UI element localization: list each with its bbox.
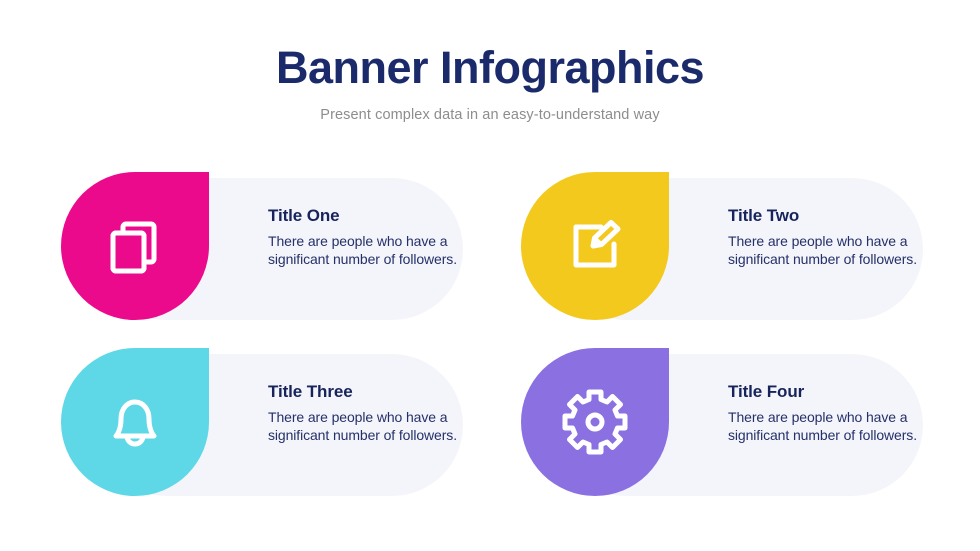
cards-grid: Title One There are people who have a si…	[0, 172, 980, 512]
info-card-one[interactable]: Title One There are people who have a si…	[61, 172, 463, 320]
page-title: Banner Infographics	[0, 44, 980, 91]
card-color-drop	[521, 172, 669, 320]
bell-icon	[102, 389, 168, 455]
card-text-block: Title Two There are people who have a si…	[728, 206, 918, 269]
card-title: Title One	[268, 206, 458, 226]
card-text-block: Title Four There are people who have a s…	[728, 382, 918, 445]
card-title: Title Two	[728, 206, 918, 226]
copy-icon	[103, 214, 167, 278]
card-description: There are people who have a significant …	[728, 226, 918, 269]
card-description: There are people who have a significant …	[268, 226, 458, 269]
info-card-three[interactable]: Title Three There are people who have a …	[61, 348, 463, 496]
info-card-two[interactable]: Title Two There are people who have a si…	[521, 172, 923, 320]
card-description: There are people who have a significant …	[728, 402, 918, 445]
card-title: Title Four	[728, 382, 918, 402]
page-subtitle: Present complex data in an easy-to-under…	[0, 91, 980, 123]
card-color-drop	[521, 348, 669, 496]
card-color-drop	[61, 348, 209, 496]
card-description: There are people who have a significant …	[268, 402, 458, 445]
card-color-drop	[61, 172, 209, 320]
infographic-slide: Banner Infographics Present complex data…	[0, 0, 980, 551]
header: Banner Infographics Present complex data…	[0, 44, 980, 123]
card-title: Title Three	[268, 382, 458, 402]
card-text-block: Title One There are people who have a si…	[268, 206, 458, 269]
edit-pencil-icon	[563, 214, 627, 278]
copy-icon-mask	[116, 236, 142, 269]
card-text-block: Title Three There are people who have a …	[268, 382, 458, 445]
gear-icon	[562, 389, 628, 455]
info-card-four[interactable]: Title Four There are people who have a s…	[521, 348, 923, 496]
